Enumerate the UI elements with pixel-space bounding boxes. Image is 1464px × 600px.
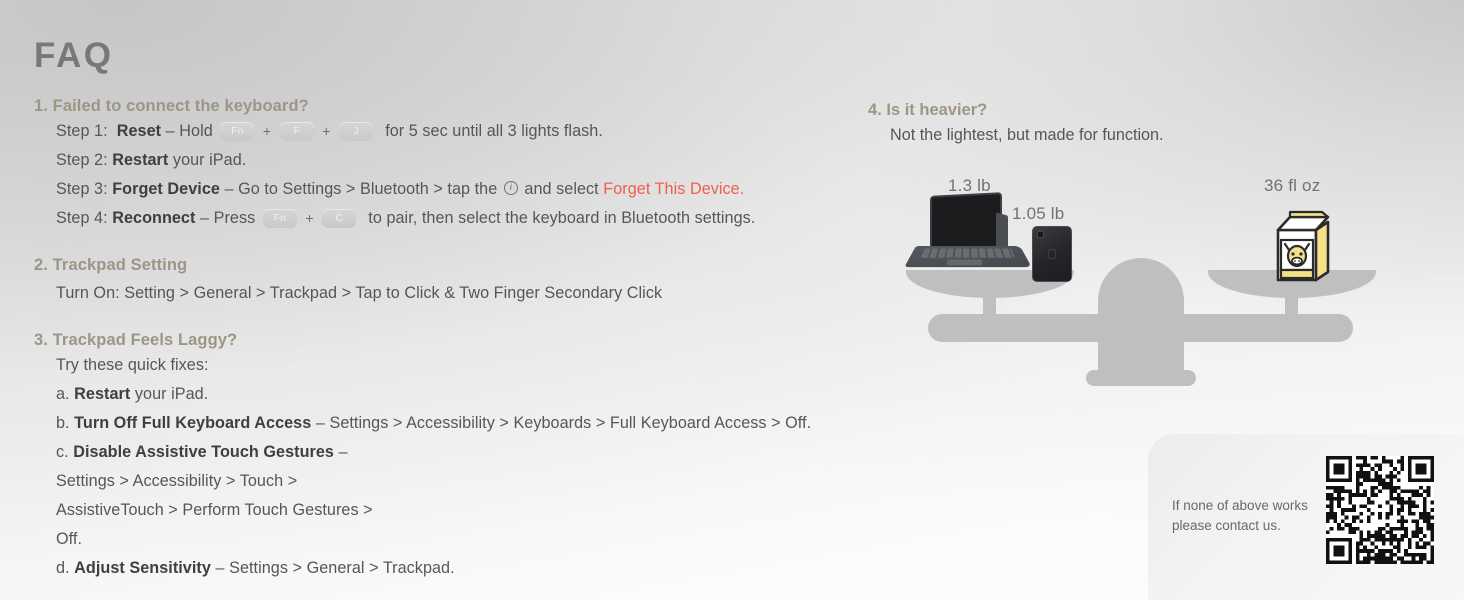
fix-item-a: a. Restart your iPad. (56, 380, 914, 409)
fix-a-marker: a. (56, 385, 70, 403)
forget-this-device-link[interactable]: Forget This Device. (603, 180, 744, 198)
step-4-label: Step 4: (56, 209, 108, 227)
weight-label-ipad: 1.05 lb (1012, 204, 1064, 224)
faq-section-1-body: Step 1: Reset – Hold Fn + F + J for 5 se… (34, 117, 914, 233)
step-1-label: Step 1: (56, 122, 108, 140)
fix-c-bold: Disable Assistive Touch Gestures (73, 443, 334, 461)
fix-b-rest: Settings > Accessibility > Keyboards > F… (329, 414, 811, 432)
fix-item-b: b. Turn Off Full Keyboard Access – Setti… (56, 409, 914, 438)
fix-a-bold: Restart (74, 385, 130, 403)
step-2-rest: your iPad. (173, 151, 246, 169)
faq-section-4-heading: 4. Is it heavier? (868, 100, 1428, 121)
quick-fixes-intro: Try these quick fixes: (56, 351, 914, 380)
faq-right-column: 4. Is it heavier? Not the lightest, but … (868, 100, 1428, 150)
scale-column (1098, 258, 1184, 380)
fix-d-dash: – (215, 559, 224, 577)
step-1-dash: – (166, 122, 175, 140)
keyboard-keys-shape (921, 249, 1016, 258)
faq-section-1-title: Failed to connect the keyboard? (53, 97, 309, 115)
fix-b-marker: b. (56, 414, 70, 432)
step-3-bold: Forget Device (112, 180, 220, 198)
fix-d-bold: Adjust Sensitivity (74, 559, 211, 577)
fix-c-dash: – (339, 443, 348, 461)
fix-c-marker: c. (56, 443, 69, 461)
scale-foot (1086, 370, 1196, 386)
step-2-bold: Restart (112, 151, 168, 169)
keyboard-case-icon (912, 194, 1022, 274)
keycap-c[interactable]: C (322, 209, 356, 228)
step-1-before-keys: Hold (179, 122, 213, 140)
keyboard-trackpad-shape (946, 259, 982, 265)
faq-section-4-subtitle: Not the lightest, but made for function. (868, 121, 1428, 150)
contact-card-line-2: please contact us. (1172, 516, 1308, 536)
step-3-label: Step 3: (56, 180, 108, 198)
milk-carton-svg (1272, 210, 1334, 282)
step-4-bold: Reconnect (112, 209, 195, 227)
fix-item-c: c. Disable Assistive Touch Gestures – Se… (56, 438, 914, 554)
ipad-tablet-icon:  (1032, 226, 1072, 282)
fix-d-rest: Settings > General > Trackpad. (229, 559, 455, 577)
faq-left-column: FAQ 1. Failed to connect the keyboard? S… (34, 38, 914, 583)
step-3-line: Step 3: Forget Device – Go to Settings >… (56, 175, 914, 204)
step-4-after-keys: to pair, then select the keyboard in Blu… (368, 209, 755, 227)
fix-b-bold: Turn Off Full Keyboard Access (74, 414, 311, 432)
step-2-line: Step 2: Restart your iPad. (56, 146, 914, 175)
faq-section-4-number: 4. (868, 101, 882, 119)
faq-section-3: 3. Trackpad Feels Laggy? Try these quick… (34, 330, 914, 583)
faq-section-2-heading: 2. Trackpad Setting (34, 255, 914, 276)
step-3-path: Go to Settings > Bluetooth > tap the (238, 180, 497, 198)
ipad-screen-shape (930, 192, 1002, 252)
faq-section-1-number: 1. (34, 97, 48, 115)
step-3-rest: and select (524, 180, 598, 198)
step-4-dash: – (200, 209, 209, 227)
faq-section-2-number: 2. (34, 256, 48, 274)
fix-c-rest: Settings > Accessibility > Touch > Assis… (56, 472, 373, 548)
step-1-bold: Reset (117, 122, 161, 140)
contact-card: If none of above works please contact us… (1148, 434, 1464, 600)
ipad-camera-icon (1037, 231, 1044, 238)
plus-sign: + (262, 123, 272, 139)
step-3-dash: – (224, 180, 233, 198)
step-4-before-keys: Press (214, 209, 256, 227)
faq-section-1: 1. Failed to connect the keyboard? Step … (34, 96, 914, 233)
faq-section-3-body: Try these quick fixes: a. Restart your i… (34, 351, 914, 583)
contact-card-line-1: If none of above works (1172, 496, 1308, 516)
step-1-after-keys: for 5 sec until all 3 lights flash. (385, 122, 603, 140)
apple-logo-icon:  (1047, 248, 1057, 261)
step-2-label: Step 2: (56, 151, 108, 169)
fix-d-marker: d. (56, 559, 70, 577)
fix-a-rest: your iPad. (135, 385, 208, 403)
qr-code[interactable] (1326, 456, 1434, 564)
fix-item-d: d. Adjust Sensitivity – Settings > Gener… (56, 554, 914, 583)
fix-b-dash: – (316, 414, 325, 432)
keycap-fn[interactable]: Fn (220, 122, 254, 141)
plus-sign: + (321, 123, 331, 139)
trackpad-setting-path: Turn On: Setting > General > Trackpad > … (56, 279, 914, 308)
faq-section-2-title: Trackpad Setting (53, 256, 188, 274)
faq-section-4-title: Is it heavier? (886, 101, 987, 119)
info-icon (504, 181, 518, 195)
plus-sign: + (304, 210, 314, 226)
weight-label-milk-carton: 36 fl oz (1264, 176, 1320, 196)
weight-label-keyboard-case: 1.3 lb (948, 176, 991, 196)
step-1-line: Step 1: Reset – Hold Fn + F + J for 5 se… (56, 117, 914, 146)
keyboard-base-shape (904, 246, 1031, 267)
spacer (34, 308, 914, 330)
keycap-fn-2[interactable]: Fn (263, 209, 297, 228)
milk-carton-icon (1272, 210, 1334, 282)
faq-section-3-heading: 3. Trackpad Feels Laggy? (34, 330, 914, 351)
faq-section-1-heading: 1. Failed to connect the keyboard? (34, 96, 914, 117)
faq-section-2-body: Turn On: Setting > General > Trackpad > … (34, 279, 914, 308)
page-title: FAQ (34, 38, 914, 73)
step-4-line: Step 4: Reconnect – Press Fn + C to pair… (56, 204, 914, 233)
faq-section-3-title: Trackpad Feels Laggy? (53, 331, 238, 349)
spacer (34, 233, 914, 255)
keycap-f[interactable]: F (280, 122, 314, 141)
faq-section-2: 2. Trackpad Setting Turn On: Setting > G… (34, 255, 914, 309)
contact-card-text: If none of above works please contact us… (1172, 496, 1308, 536)
balance-scale-illustration:  1.3 lb 1.05 lb 36 fl oz (890, 170, 1430, 395)
keycap-j[interactable]: J (339, 122, 373, 141)
faq-section-3-number: 3. (34, 331, 48, 349)
qr-code-svg (1326, 456, 1434, 564)
